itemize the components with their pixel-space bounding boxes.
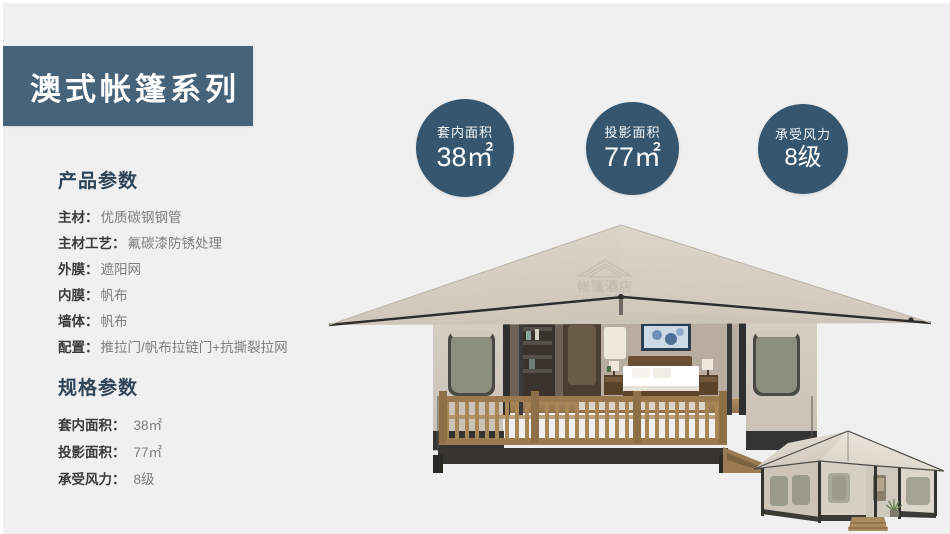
param-value: 推拉门/帆布拉链门+抗撕裂拉网 [101,340,288,355]
spec-params-list: 套内面积：38㎡ 投影面积：77㎡ 承受风力：8级 [58,412,358,493]
stat-label: 套内面积 [437,126,493,139]
inset-tent-image [748,421,948,534]
spec-params-heading: 规格参数 [58,373,358,400]
stat-value: 8级 [784,146,821,170]
param-value: 帆布 [101,314,128,329]
spec-label: 套内面积： [58,418,126,433]
param-label: 主材工艺： [58,236,126,251]
stat-label: 承受风力 [775,128,831,141]
list-item: 外膜：遮阳网 [58,257,358,283]
param-label: 主材： [58,210,99,225]
list-item: 主材工艺：氟碳漆防锈处理 [58,231,358,257]
stat-label: 投影面积 [604,126,660,139]
list-item: 套内面积：38㎡ [58,412,358,439]
tent-post [739,309,746,415]
stat-circle-projected-area: 投影面积 77㎡ [586,102,679,195]
spec-value: 77㎡ [134,445,163,460]
stat-circle-wind-resistance: 承受风力 8级 [758,104,848,194]
stat-circle-interior-area: 套内面积 38㎡ [416,99,514,197]
product-params-section: 产品参数 主材：优质碳钢钢管 主材工艺：氟碳漆防锈处理 外膜：遮阳网 内膜：帆布… [58,166,358,361]
list-item: 墙体：帆布 [58,309,358,335]
stat-value: 77㎡ [604,144,661,171]
param-value: 氟碳漆防锈处理 [128,236,223,251]
spec-params-section: 规格参数 套内面积：38㎡ 投影面积：77㎡ 承受风力：8级 [58,373,358,493]
param-label: 内膜： [58,288,99,303]
page-title: 澳式帐篷系列 [30,64,240,109]
spec-value: 8级 [134,472,155,487]
spec-label: 投影面积： [58,445,126,460]
title-banner: 澳式帐篷系列 [3,46,253,126]
spec-value: 38㎡ [134,418,163,433]
list-item: 投影面积：77㎡ [58,439,358,466]
slide-canvas: 澳式帐篷系列 产品参数 主材：优质碳钢钢管 主材工艺：氟碳漆防锈处理 外膜：遮阳… [0,0,950,534]
list-item: 承受风力：8级 [58,466,358,493]
param-value: 遮阳网 [101,262,142,277]
tent-post [727,309,732,415]
param-label: 配置： [58,340,99,355]
param-value: 帆布 [101,288,128,303]
stat-value: 38㎡ [436,144,493,171]
param-value: 优质碳钢钢管 [101,210,182,225]
tent-roof [329,225,931,325]
product-params-heading: 产品参数 [58,166,358,193]
list-item: 配置：推拉门/帆布拉链门+抗撕裂拉网 [58,335,358,361]
param-label: 外膜： [58,262,99,277]
product-params-list: 主材：优质碳钢钢管 主材工艺：氟碳漆防锈处理 外膜：遮阳网 内膜：帆布 墙体：帆… [58,205,358,361]
param-label: 墙体： [58,314,99,329]
list-item: 内膜：帆布 [58,283,358,309]
list-item: 主材：优质碳钢钢管 [58,205,358,231]
spec-label: 承受风力： [58,472,126,487]
